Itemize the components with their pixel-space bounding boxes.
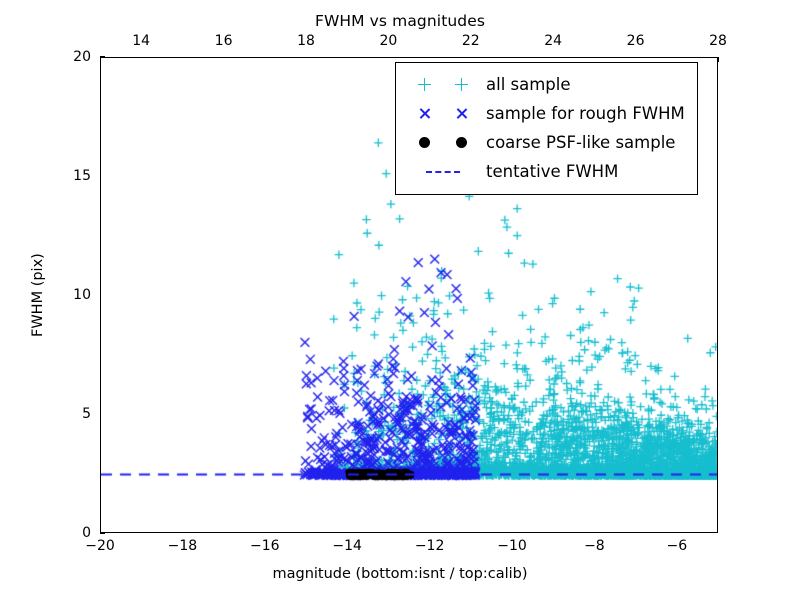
legend-label: tentative FWHM	[480, 162, 618, 181]
x-tick-label-top: 24	[544, 33, 562, 49]
x-tick-label-bottom: −6	[666, 538, 687, 554]
legend-marker-cross	[406, 107, 480, 120]
y-tick-label: 5	[82, 406, 91, 422]
legend-item-rough-fwhm[interactable]: sample for rough FWHM	[406, 99, 685, 128]
page-title: FWHM vs magnitudes	[0, 12, 800, 30]
legend-item-all-sample[interactable]: all sample	[406, 70, 685, 99]
x-tick-label-bottom: −14	[332, 538, 362, 554]
legend-label: coarse PSF-like sample	[480, 133, 675, 152]
legend-marker-plus	[406, 78, 480, 91]
x-tick-label-top: 22	[462, 33, 480, 49]
x-tick-label-bottom: −12	[415, 538, 445, 554]
figure: FWHM vs magnitudes magnitude (bottom:isn…	[0, 0, 800, 600]
x-tick-label-top: 14	[132, 33, 150, 49]
y-tick-label: 15	[73, 168, 91, 184]
y-axis-label: FWHM (pix)	[30, 253, 46, 337]
x-axis-label: magnitude (bottom:isnt / top:calib)	[0, 566, 800, 582]
x-tick-label-top: 16	[215, 33, 233, 49]
y-tick-label: 0	[82, 525, 91, 541]
legend: all sample sample for rough FWHM coarse …	[395, 62, 698, 195]
legend-item-coarse-psf[interactable]: coarse PSF-like sample	[406, 128, 685, 157]
x-tick-label-top: 20	[379, 33, 397, 49]
y-tick-label: 10	[73, 287, 91, 303]
x-tick-label-top: 26	[627, 33, 645, 49]
x-tick-mark-top	[718, 57, 719, 62]
y-tick-label: 20	[73, 49, 91, 65]
x-tick-label-top: 28	[709, 33, 727, 49]
x-tick-label-bottom: −8	[584, 538, 605, 554]
x-tick-label-bottom: −10	[497, 538, 527, 554]
x-tick-label-bottom: −16	[250, 538, 280, 554]
x-tick-label-top: 18	[297, 33, 315, 49]
x-tick-label-bottom: −18	[168, 538, 198, 554]
legend-label: all sample	[480, 75, 571, 94]
legend-item-tentative-fwhm[interactable]: tentative FWHM	[406, 157, 685, 186]
legend-label: sample for rough FWHM	[480, 104, 685, 123]
legend-marker-dashed-line	[406, 171, 480, 173]
legend-marker-dot	[406, 137, 480, 148]
